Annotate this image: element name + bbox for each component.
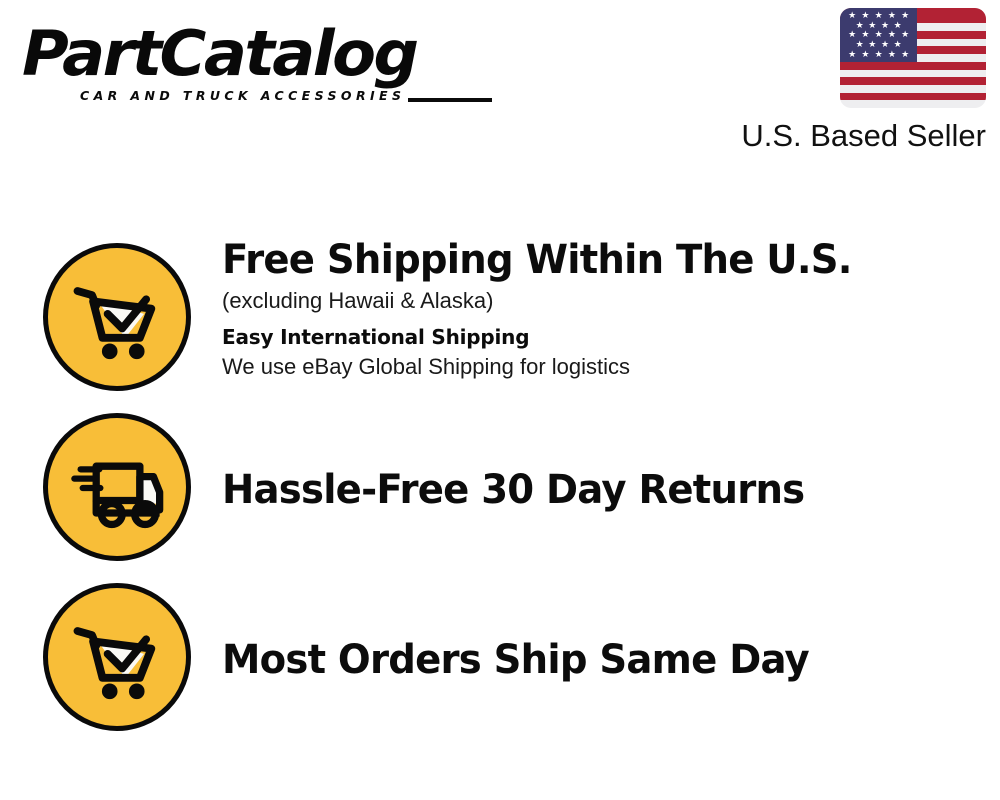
us-flag-icon: ★ ★ ★ ★ ★ ★ ★ ★ ★ ★ ★ ★ ★ ★ ★ ★	[840, 8, 986, 108]
flag-star-row: ★ ★ ★ ★	[843, 40, 914, 49]
flag-stripe	[840, 77, 986, 85]
star-icon: ★	[875, 50, 883, 59]
star-icon: ★	[881, 21, 889, 30]
flag-stripe	[840, 62, 986, 70]
star-icon: ★	[901, 50, 909, 59]
star-icon: ★	[861, 30, 869, 39]
star-icon: ★	[888, 30, 896, 39]
star-icon: ★	[848, 50, 856, 59]
logo-swash-decoration	[408, 98, 492, 102]
feature-text-block: Hassle-Free 30 Day Returns	[222, 467, 962, 513]
star-icon: ★	[861, 50, 869, 59]
feature-headline: Free Shipping Within The U.S.	[222, 237, 936, 283]
star-icon: ★	[888, 50, 896, 59]
star-icon: ★	[856, 21, 864, 30]
brand-logo: PartCatalog CAR AND TRUCK ACCESSORIES	[22, 22, 492, 112]
star-icon: ★	[894, 40, 902, 49]
star-icon: ★	[875, 30, 883, 39]
feature-headline: Most Orders Ship Same Day	[222, 637, 936, 683]
flag-star-row: ★ ★ ★ ★	[843, 21, 914, 30]
star-icon: ★	[856, 40, 864, 49]
brand-tagline-row: CAR AND TRUCK ACCESSORIES	[22, 87, 492, 105]
feature-subheading: Easy International Shipping	[222, 322, 962, 352]
star-icon: ★	[888, 11, 896, 20]
delivery-truck-icon	[43, 413, 191, 561]
flag-stripe	[840, 93, 986, 101]
feature-text-block: Most Orders Ship Same Day	[222, 637, 962, 683]
feature-subtext: We use eBay Global Shipping for logistic…	[222, 352, 962, 382]
star-icon: ★	[848, 30, 856, 39]
brand-wordmark: PartCatalog	[22, 22, 506, 86]
flag-star-row: ★ ★ ★ ★ ★	[843, 30, 914, 39]
feature-headline: Hassle-Free 30 Day Returns	[222, 467, 936, 513]
shopping-cart-check-icon	[43, 583, 191, 731]
feature-row: Free Shipping Within The U.S. (excluding…	[0, 243, 1000, 403]
feature-row: Hassle-Free 30 Day Returns	[0, 413, 1000, 573]
star-icon: ★	[901, 11, 909, 20]
star-icon: ★	[901, 30, 909, 39]
star-icon: ★	[848, 11, 856, 20]
star-icon: ★	[894, 21, 902, 30]
flag-star-row: ★ ★ ★ ★ ★	[843, 11, 914, 20]
star-icon: ★	[875, 11, 883, 20]
star-icon: ★	[861, 11, 869, 20]
promo-banner: PartCatalog CAR AND TRUCK ACCESSORIES ★ …	[0, 0, 1000, 800]
star-icon: ★	[868, 40, 876, 49]
brand-tagline: CAR AND TRUCK ACCESSORIES	[80, 88, 405, 103]
flag-stars: ★ ★ ★ ★ ★ ★ ★ ★ ★ ★ ★ ★ ★ ★ ★ ★	[840, 8, 917, 62]
star-icon: ★	[868, 21, 876, 30]
flag-star-row: ★ ★ ★ ★ ★	[843, 50, 914, 59]
feature-text-block: Free Shipping Within The U.S. (excluding…	[222, 237, 962, 382]
star-icon: ★	[881, 40, 889, 49]
feature-note: (excluding Hawaii & Alaska)	[222, 286, 962, 316]
feature-row: Most Orders Ship Same Day	[0, 583, 1000, 743]
us-based-seller-label: U.S. Based Seller	[700, 118, 986, 154]
shopping-cart-check-icon	[43, 243, 191, 391]
